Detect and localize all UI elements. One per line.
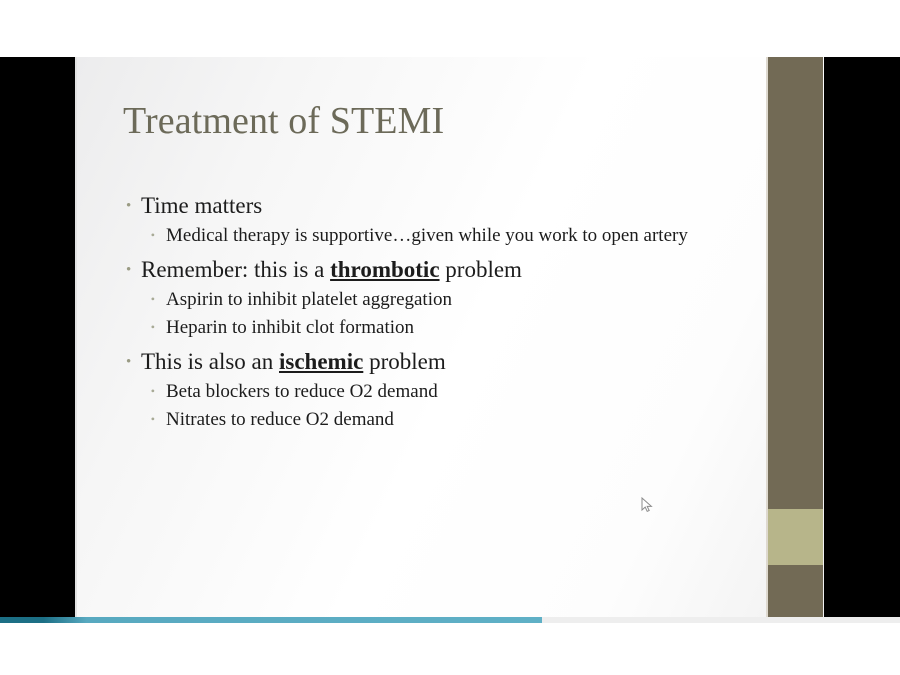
bullet-level2: • Medical therapy is supportive…given wh… [123, 222, 753, 249]
bullet-text: Time matters [141, 191, 262, 221]
bullet-level2: • Beta blockers to reduce O2 demand [123, 378, 753, 405]
bullet-marker-icon: • [123, 347, 141, 377]
bullet-text-prefix: This is also an [141, 349, 279, 374]
bullet-text-emphasis: ischemic [279, 349, 363, 374]
bullet-text-emphasis: thrombotic [330, 257, 439, 282]
bullet-marker-icon: • [123, 255, 141, 285]
decorative-accent-block [768, 509, 823, 565]
bullet-marker-icon: • [123, 378, 166, 405]
bullet-marker-icon: • [123, 191, 141, 221]
letterbox-left [0, 57, 75, 617]
bullet-text: This is also an ischemic problem [141, 347, 446, 377]
presentation-slide: Treatment of STEMI • Time matters • Medi… [75, 57, 824, 617]
bullet-text-suffix: problem [363, 349, 445, 374]
letterbox-right [824, 57, 900, 617]
bullet-level2: • Heparin to inhibit clot formation [123, 314, 753, 341]
bullet-level1: • Remember: this is a thrombotic problem [123, 255, 753, 285]
bullet-text: Remember: this is a thrombotic problem [141, 255, 522, 285]
slide-body: • Time matters • Medical therapy is supp… [123, 191, 753, 434]
bullet-level1: • Time matters [123, 191, 753, 221]
bullet-text: Medical therapy is supportive…given whil… [166, 222, 688, 249]
bullet-text-prefix: Remember: this is a [141, 257, 330, 282]
bullet-level1: • This is also an ischemic problem [123, 347, 753, 377]
bullet-marker-icon: • [123, 314, 166, 341]
bullet-marker-icon: • [123, 222, 166, 249]
slide-left-edge [75, 57, 77, 617]
bullet-marker-icon: • [123, 406, 166, 433]
bullet-text: Aspirin to inhibit platelet aggregation [166, 286, 452, 313]
slide-title: Treatment of STEMI [123, 101, 444, 143]
bullet-level2: • Nitrates to reduce O2 demand [123, 406, 753, 433]
bullet-text-suffix: problem [440, 257, 522, 282]
bullet-marker-icon: • [123, 286, 166, 313]
player-bottom-area [0, 623, 900, 675]
bullet-level2: • Aspirin to inhibit platelet aggregatio… [123, 286, 753, 313]
bullet-text: Nitrates to reduce O2 demand [166, 406, 394, 433]
letterbox-top [0, 0, 900, 57]
screen-capture: Treatment of STEMI • Time matters • Medi… [0, 0, 900, 675]
bullet-text: Beta blockers to reduce O2 demand [166, 378, 438, 405]
bullet-text: Heparin to inhibit clot formation [166, 314, 414, 341]
